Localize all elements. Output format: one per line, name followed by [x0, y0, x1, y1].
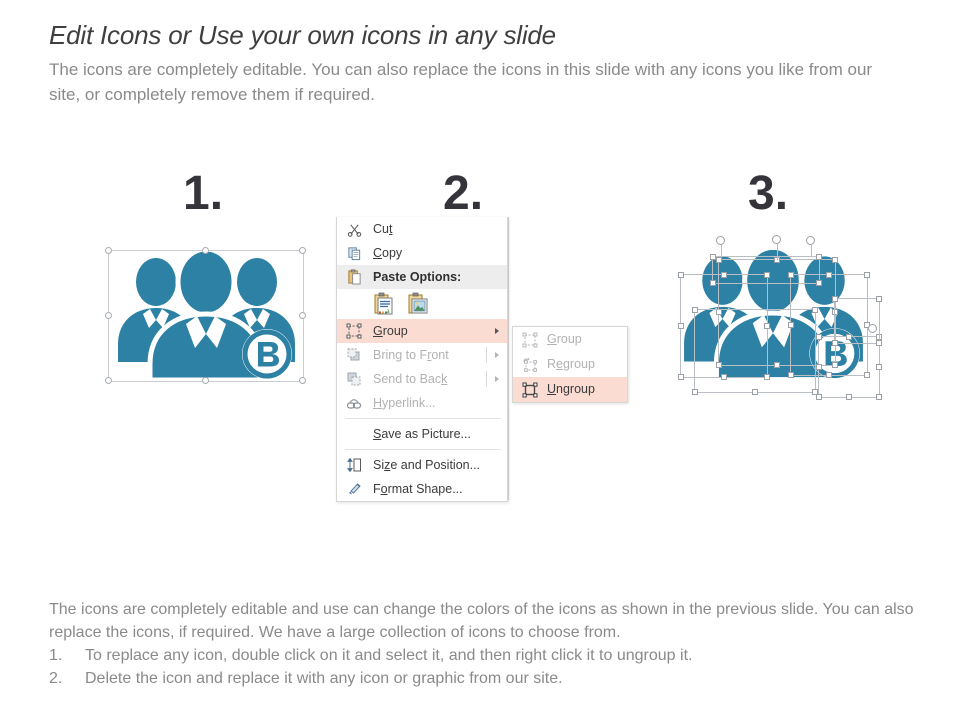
- submenu-item-regroup[interactable]: Regroup: [513, 352, 627, 377]
- selection-box-head-row[interactable]: [712, 256, 820, 284]
- resize-handle-ne[interactable]: [876, 296, 882, 302]
- rotate-handle[interactable]: [716, 236, 725, 245]
- selection-box-badge[interactable]: [818, 336, 880, 398]
- menu-separator: [345, 449, 501, 450]
- selection-box-collar-group[interactable]: [694, 309, 816, 393]
- submenu-item-ungroup[interactable]: Ungroup: [513, 377, 627, 402]
- submenu-item-label: Regroup: [547, 358, 595, 371]
- rotate-stem: [721, 245, 722, 257]
- resize-handle-s[interactable]: [846, 394, 852, 400]
- resize-handle-w[interactable]: [105, 312, 112, 319]
- ungroup-icon: [521, 381, 539, 399]
- page-subtitle: The icons are completely editable. You c…: [49, 57, 879, 107]
- page-title: Edit Icons or Use your own icons in any …: [49, 20, 556, 51]
- resize-handle-w[interactable]: [678, 323, 684, 329]
- menu-item-label: Cut: [373, 223, 392, 236]
- format-shape-icon: [345, 480, 363, 498]
- menu-divider: [486, 347, 487, 363]
- resize-handle-se[interactable]: [876, 394, 882, 400]
- menu-item-bring-to-front[interactable]: Bring to Front: [337, 343, 507, 367]
- resize-handle-nw[interactable]: [678, 272, 684, 278]
- menu-item-send-to-back[interactable]: Send to Back: [337, 367, 507, 391]
- step-number-3: 3.: [748, 170, 788, 218]
- slide-canvas: Edit Icons or Use your own icons in any …: [0, 0, 960, 720]
- resize-handle-w[interactable]: [816, 364, 822, 370]
- list-item-text: To replace any icon, double click on it …: [85, 647, 692, 664]
- menu-item-label: Hyperlink...: [373, 397, 436, 410]
- menu-item-save-as-picture[interactable]: Save as Picture...: [337, 422, 507, 446]
- resize-handle-se[interactable]: [816, 280, 822, 286]
- bring-to-front-icon: [345, 346, 363, 364]
- menu-item-label: Bring to Front: [373, 349, 449, 362]
- resize-handle-e[interactable]: [876, 364, 882, 370]
- list-item: 2. Delete the icon and replace it with a…: [49, 667, 929, 690]
- menu-item-size-and-position[interactable]: Size and Position...: [337, 453, 507, 477]
- paste-options-row[interactable]: a: [337, 289, 507, 319]
- resize-handle-sw[interactable]: [710, 280, 716, 286]
- rotate-handle[interactable]: [772, 235, 781, 244]
- resize-handle-s[interactable]: [202, 377, 209, 384]
- group-icon: [521, 331, 539, 349]
- resize-handle-e[interactable]: [299, 312, 306, 319]
- group-submenu[interactable]: Group Regroup: [512, 326, 628, 403]
- submenu-item-label: Group: [547, 333, 582, 346]
- selection-box-icon-1[interactable]: [108, 250, 304, 382]
- resize-handle-ne[interactable]: [299, 247, 306, 254]
- list-item-text: Delete the icon and replace it with any …: [85, 670, 563, 687]
- context-menu[interactable]: Cut Copy: [336, 217, 508, 502]
- list-item-number: 1.: [49, 644, 62, 667]
- resize-handle-n[interactable]: [202, 247, 209, 254]
- menu-item-group[interactable]: Group: [337, 319, 507, 343]
- copy-icon: [345, 244, 363, 262]
- selection-box-badge-outline[interactable]: [834, 298, 880, 344]
- chevron-right-icon: [495, 376, 499, 382]
- menu-item-label: Copy: [373, 247, 402, 260]
- chevron-right-icon: [495, 328, 499, 334]
- resize-handle-nw[interactable]: [105, 247, 112, 254]
- resize-handle-s[interactable]: [752, 389, 758, 395]
- scissors-icon: [345, 220, 363, 238]
- chevron-right-icon: [495, 352, 499, 358]
- menu-item-label: Send to Back: [373, 373, 447, 386]
- footer-list: 1. To replace any icon, double click on …: [49, 644, 929, 690]
- footer-notes: The icons are completely editable and us…: [49, 598, 929, 690]
- submenu-item-group[interactable]: Group: [513, 327, 627, 352]
- menu-item-cut[interactable]: Cut: [337, 217, 507, 241]
- menu-item-label: Group: [373, 325, 408, 338]
- resize-handle-sw[interactable]: [105, 377, 112, 384]
- resize-handle-nw[interactable]: [832, 296, 838, 302]
- menu-item-label: Save as Picture...: [373, 428, 471, 441]
- resize-handle-ne[interactable]: [864, 272, 870, 278]
- rotate-stem: [811, 245, 812, 257]
- footer-paragraph: The icons are completely editable and us…: [49, 598, 929, 644]
- resize-handle-sw[interactable]: [678, 374, 684, 380]
- clipboard-icon: [345, 268, 363, 286]
- resize-handle-se[interactable]: [299, 377, 306, 384]
- resize-handle-se[interactable]: [876, 340, 882, 346]
- group-icon: [345, 322, 363, 340]
- size-and-position-icon: [345, 456, 363, 474]
- resize-handle-ne[interactable]: [816, 254, 822, 260]
- menu-item-label: Size and Position...: [373, 459, 480, 472]
- no-icon: [345, 425, 363, 443]
- step-number-2: 2.: [443, 170, 483, 218]
- resize-handle-nw[interactable]: [710, 254, 716, 260]
- send-to-back-icon: [345, 370, 363, 388]
- menu-item-copy[interactable]: Copy: [337, 241, 507, 265]
- menu-item-format-shape[interactable]: Format Shape...: [337, 477, 507, 501]
- paste-keep-source-formatting-icon[interactable]: a: [373, 292, 395, 316]
- menu-item-hyperlink[interactable]: Hyperlink...: [337, 391, 507, 415]
- resize-handle-sw[interactable]: [692, 389, 698, 395]
- hyperlink-icon: [345, 394, 363, 412]
- regroup-icon: [521, 356, 539, 374]
- menu-item-paste-options: Paste Options:: [337, 265, 507, 289]
- resize-handle-nw[interactable]: [816, 334, 822, 340]
- menu-separator: [345, 418, 501, 419]
- resize-handle-n[interactable]: [826, 272, 832, 278]
- menu-divider: [486, 371, 487, 387]
- submenu-item-label: Ungroup: [547, 383, 595, 396]
- step-number-1: 1.: [183, 170, 223, 218]
- resize-handle-se[interactable]: [812, 389, 818, 395]
- resize-handle-sw[interactable]: [832, 340, 838, 346]
- menu-item-label: Format Shape...: [373, 483, 463, 496]
- paste-picture-icon[interactable]: [407, 292, 429, 316]
- submenu-connector-line: [508, 217, 509, 500]
- resize-handle-ne[interactable]: [832, 257, 838, 263]
- list-item: 1. To replace any icon, double click on …: [49, 644, 929, 667]
- resize-handle-nw[interactable]: [692, 307, 698, 313]
- resize-handle-ne[interactable]: [812, 307, 818, 313]
- menu-item-label: Paste Options:: [373, 271, 461, 284]
- list-item-number: 2.: [49, 667, 62, 690]
- rotate-handle[interactable]: [806, 236, 815, 245]
